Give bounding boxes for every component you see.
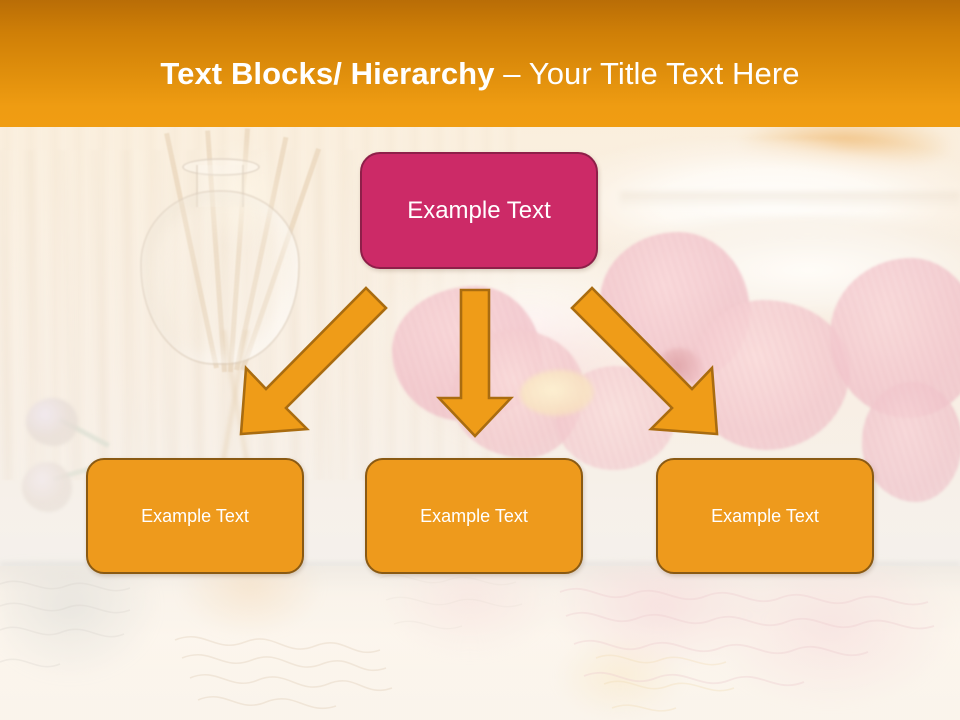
hierarchy-top-node[interactable]: Example Text xyxy=(360,152,598,269)
hierarchy-leaf-node-3[interactable]: Example Text xyxy=(656,458,874,574)
hierarchy-leaf-node-2[interactable]: Example Text xyxy=(365,458,583,574)
hierarchy-leaf-node-1[interactable]: Example Text xyxy=(86,458,304,574)
connector-arrows xyxy=(0,0,960,720)
arrow-down-left-icon xyxy=(241,288,386,434)
arrow-down-right-icon xyxy=(572,288,717,434)
slide-canvas: Text Blocks/ Hierarchy – Your Title Text… xyxy=(0,0,960,720)
arrow-down-icon xyxy=(439,290,511,436)
